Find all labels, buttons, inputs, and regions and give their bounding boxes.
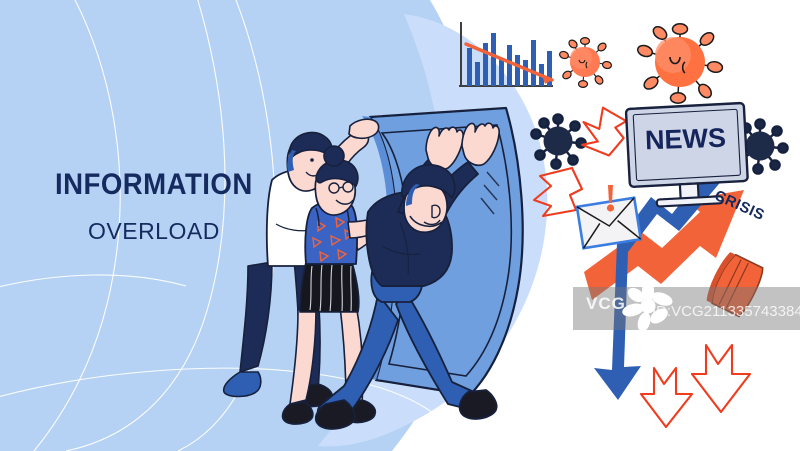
page-title: INFORMATION: [55, 168, 285, 202]
page-subtitle: OVERLOAD: [88, 218, 338, 245]
news-screen-label: NEWS: [644, 123, 726, 157]
illustration-canvas: INFORMATION OVERLOAD NEWS CRISIS VCG ID:…: [0, 0, 800, 451]
